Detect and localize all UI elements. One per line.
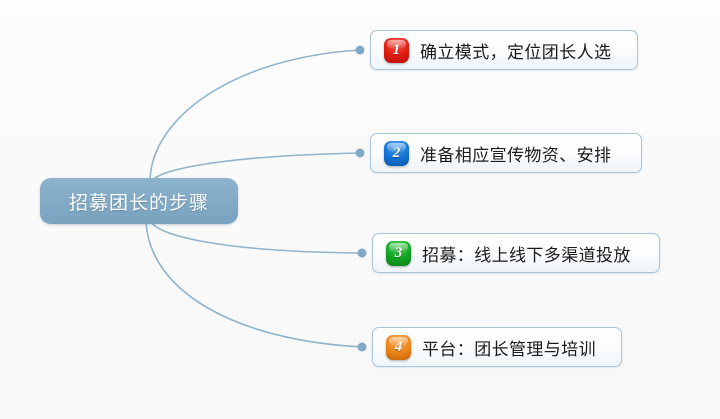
number-badge-3-icon: 3: [386, 241, 411, 266]
connector-dot-3: [358, 249, 367, 258]
child-node-2-label: 准备相应宣传物资、安排: [420, 141, 611, 166]
root-node-label: 招募团长的步骤: [69, 188, 209, 215]
number-badge-2-value: 2: [393, 146, 401, 161]
child-node-4-label: 平台：团长管理与培训: [422, 335, 596, 360]
number-badge-3-value: 3: [395, 246, 403, 261]
connector-edge-3: [150, 220, 362, 253]
child-node-3-label: 招募：线上线下多渠道投放: [422, 241, 631, 266]
connector-edge-4: [146, 222, 362, 347]
number-badge-4-value: 4: [395, 340, 403, 355]
connector-dot-4: [358, 343, 367, 352]
root-node[interactable]: 招募团长的步骤: [40, 178, 238, 224]
child-node-2[interactable]: 2 准备相应宣传物资、安排: [370, 133, 642, 173]
child-node-3[interactable]: 3 招募：线上线下多渠道投放: [372, 233, 660, 273]
mindmap-canvas: 招募团长的步骤 1 确立模式，定位团长人选 2 准备相应宣传物资、安排 3 招募…: [0, 0, 720, 419]
connector-edge-1: [150, 50, 360, 182]
connector-dot-2: [356, 149, 365, 158]
number-badge-2-icon: 2: [384, 141, 409, 166]
number-badge-1-icon: 1: [384, 38, 409, 63]
number-badge-1-value: 1: [393, 43, 401, 58]
child-node-1-label: 确立模式，定位团长人选: [420, 38, 611, 63]
child-node-4[interactable]: 4 平台：团长管理与培训: [372, 327, 622, 367]
connector-dot-1: [356, 46, 365, 55]
number-badge-4-icon: 4: [386, 335, 411, 360]
child-node-1[interactable]: 1 确立模式，定位团长人选: [370, 30, 638, 70]
